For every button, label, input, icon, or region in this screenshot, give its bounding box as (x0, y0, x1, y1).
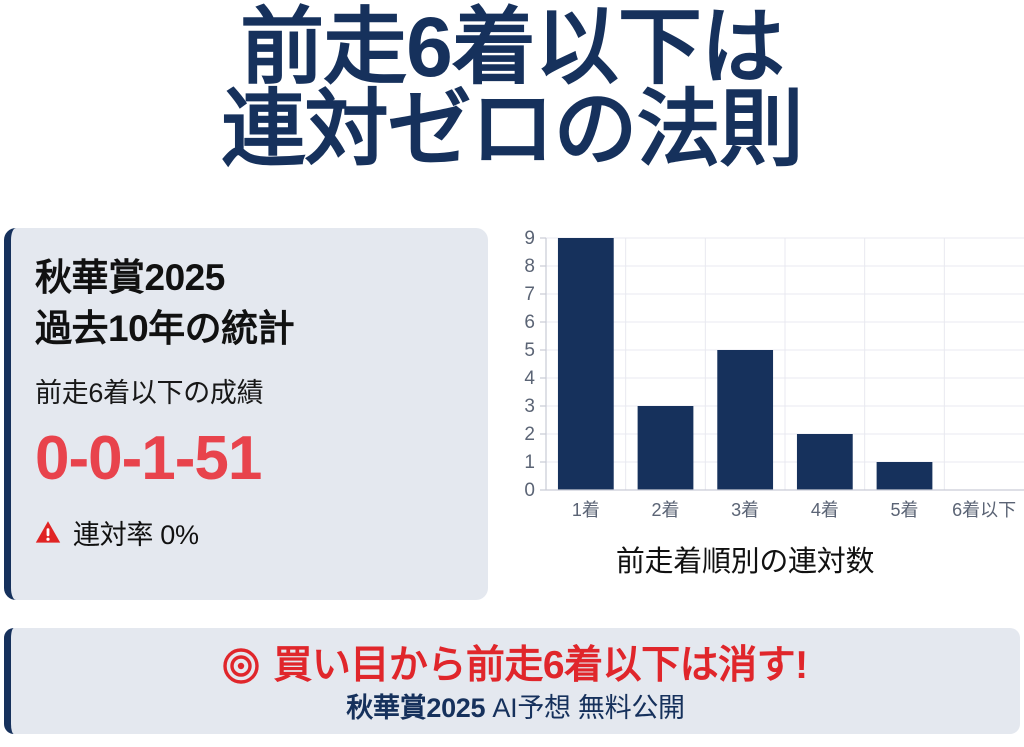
cta-sub-race: 秋華賞2025 (346, 693, 485, 723)
svg-text:2: 2 (524, 424, 535, 445)
svg-text:7: 7 (524, 284, 535, 305)
svg-text:1着: 1着 (572, 500, 600, 520)
page-title-line-1: 前走6着以下は (0, 6, 1024, 88)
stat-card-heading-period: 過去10年の統計 (35, 305, 460, 352)
chart-caption: 前走着順別の連対数 (500, 538, 990, 580)
svg-text:3着: 3着 (731, 500, 759, 520)
svg-text:1: 1 (524, 452, 535, 473)
cta-main-line: 買い目から前走6着以下は消す! (223, 645, 807, 688)
svg-text:9: 9 (524, 230, 535, 249)
stat-card-note-text: 連対率 0% (73, 513, 199, 552)
stat-card-note: 連対率 0% (35, 513, 460, 552)
svg-text:5着: 5着 (890, 500, 918, 520)
page-title-line-2: 連対ゼロの法則 (0, 88, 1024, 170)
stat-card: 秋華賞2025 過去10年の統計 前走6着以下の成績 0-0-1-51 連対率 … (4, 228, 488, 600)
cta-sub-line: 秋華賞2025 AI予想 無料公開 (346, 694, 684, 724)
chart-x-axis-labels: 1着2着3着4着5着6着以下 (572, 500, 1016, 520)
svg-text:0: 0 (524, 480, 535, 501)
chart-bars (558, 238, 932, 490)
bar-chart-svg: 0123456789 1着2着3着4着5着6着以下 (500, 230, 1024, 530)
chart-y-axis-ticks (540, 238, 546, 490)
stat-card-heading-race: 秋華賞2025 (35, 254, 460, 301)
stat-card-subtitle: 前走6着以下の成績 (35, 371, 460, 410)
page-title: 前走6着以下は 連対ゼロの法則 (0, 6, 1024, 171)
cta-banner[interactable]: 買い目から前走6着以下は消す! 秋華賞2025 AI予想 無料公開 (4, 628, 1020, 734)
bullseye-icon (223, 648, 259, 684)
svg-text:6着以下: 6着以下 (952, 500, 1016, 520)
chart-y-axis-labels: 0123456789 (524, 230, 535, 501)
stat-card-record: 0-0-1-51 (35, 426, 460, 491)
svg-text:4: 4 (524, 368, 535, 389)
svg-text:4着: 4着 (811, 500, 839, 520)
svg-text:5: 5 (524, 340, 535, 361)
svg-text:6: 6 (524, 312, 535, 333)
cta-main-text: 買い目から前走6着以下は消す! (273, 645, 807, 688)
svg-text:2着: 2着 (651, 500, 679, 520)
bar-chart: 0123456789 1着2着3着4着5着6着以下 (500, 230, 1024, 530)
cta-sub-detail: AI予想 無料公開 (485, 693, 685, 723)
svg-text:8: 8 (524, 256, 535, 277)
warning-triangle-icon (35, 520, 61, 544)
svg-text:3: 3 (524, 396, 535, 417)
